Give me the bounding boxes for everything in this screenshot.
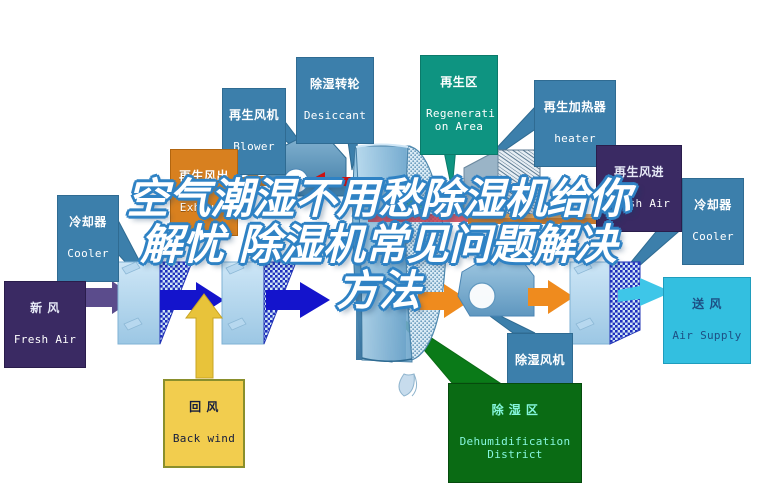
dehumidifying-blower [458, 258, 534, 316]
rotor-base-bar [368, 214, 470, 222]
callout-regen-area-en: Regenerati on Area [426, 108, 492, 133]
callout-regen-exhaust-en: Exhaust [176, 202, 232, 214]
regen-duct-bar [386, 200, 470, 208]
callout-regen-blower-cn: 再生风机 [228, 109, 280, 122]
callout-fresh-air-in[interactable]: 新 风 Fresh Air [4, 281, 86, 368]
diagram-canvas: xfl [0, 0, 757, 488]
callout-cooler-right-en: Cooler [688, 231, 738, 243]
callout-cooler-right[interactable]: 冷却器 Cooler [682, 178, 744, 265]
callout-regen-area[interactable]: 再生区 Regenerati on Area [420, 55, 498, 155]
callout-cooler-left[interactable]: 冷却器 Cooler [57, 195, 119, 282]
callout-dehum-blower-cn: 除湿风机 [513, 354, 567, 367]
callout-regen-air-in-en: Fresh Air [602, 198, 676, 210]
callout-back-wind-cn: 回 风 [170, 401, 238, 414]
callout-regen-heater-en: heater [540, 133, 610, 145]
callout-cooler-left-en: Cooler [63, 248, 113, 260]
callout-cooler-right-cn: 冷却器 [688, 199, 738, 212]
callout-regen-heater-cn: 再生加热器 [540, 101, 610, 114]
callout-back-wind-en: Back wind [170, 433, 238, 445]
callout-cooler-left-cn: 冷却器 [63, 216, 113, 229]
callout-regen-exhaust[interactable]: 再生风出 Exhaust [170, 149, 238, 236]
callout-regen-area-cn: 再生区 [426, 76, 492, 89]
callout-desiccant-rotor-cn: 除湿转轮 [302, 78, 368, 91]
callout-air-supply-cn: 送 风 [669, 298, 745, 311]
callout-regen-air-in[interactable]: 再生风进 Fresh Air [596, 145, 682, 232]
arrow-blower-out [528, 280, 574, 314]
callout-fresh-air-in-en: Fresh Air [10, 334, 80, 346]
callout-air-supply[interactable]: 送 风 Air Supply [663, 277, 751, 364]
cooler-coil-3 [570, 262, 640, 344]
callout-back-wind[interactable]: 回 风 Back wind [163, 379, 245, 468]
callout-fresh-air-in-cn: 新 风 [10, 302, 80, 315]
callout-dehum-district-en: Dehumidification District [454, 436, 576, 461]
callout-desiccant-rotor[interactable]: 除湿转轮 Desiccant [296, 57, 374, 144]
callout-desiccant-rotor-en: Desiccant [302, 110, 368, 122]
callout-air-supply-en: Air Supply [669, 330, 745, 342]
callout-regen-exhaust-cn: 再生风出 [176, 170, 232, 183]
svg-text:xfl: xfl [378, 297, 391, 310]
callout-regen-air-in-cn: 再生风进 [602, 166, 676, 179]
callout-dehum-district[interactable]: 除 湿 区 Dehumidification District [448, 383, 582, 483]
callout-dehum-district-cn: 除 湿 区 [454, 404, 576, 417]
